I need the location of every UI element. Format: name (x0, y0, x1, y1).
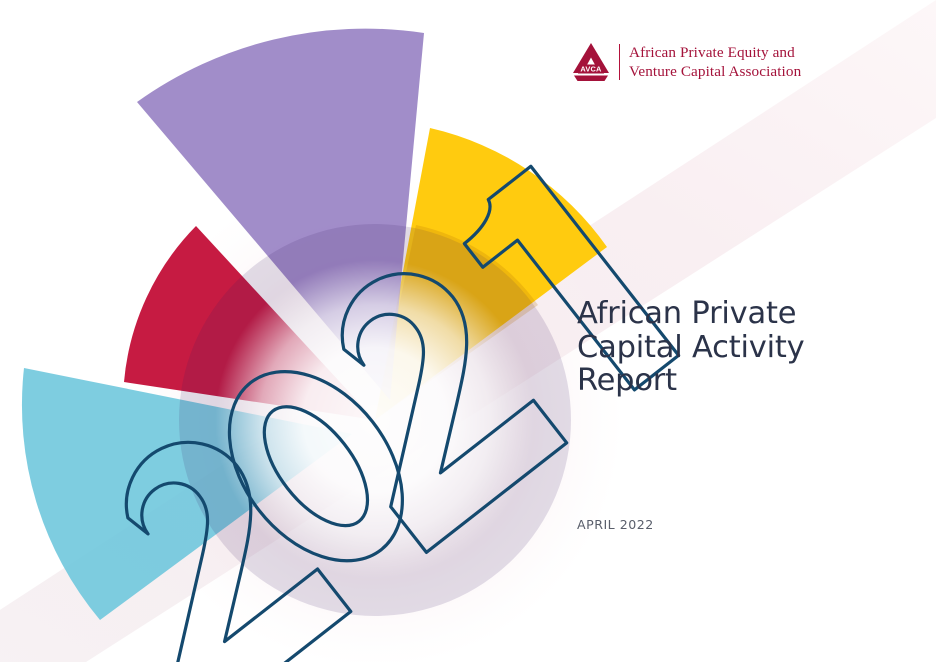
avca-wordmark-line1: African Private Equity and (629, 43, 801, 62)
avca-wordmark: African Private Equity and Venture Capit… (629, 43, 801, 81)
page-title: African Private Capital Activity Report (577, 297, 907, 398)
avca-logo-mark: AVCA (572, 42, 610, 82)
page-title-line1: African Private (577, 297, 907, 331)
avca-logo[interactable]: AVCA African Private Equity and Venture … (572, 42, 801, 82)
page-title-line2: Capital Activity (577, 331, 907, 365)
avca-wordmark-line2: Venture Capital Association (629, 62, 801, 81)
publication-date: APRIL 2022 (577, 517, 654, 532)
report-cover-page: AVCA African Private Equity and Venture … (0, 0, 936, 662)
svg-text:AVCA: AVCA (580, 65, 602, 74)
page-title-line3: Report (577, 364, 907, 398)
logo-divider (619, 44, 620, 80)
center-glow (215, 260, 535, 580)
